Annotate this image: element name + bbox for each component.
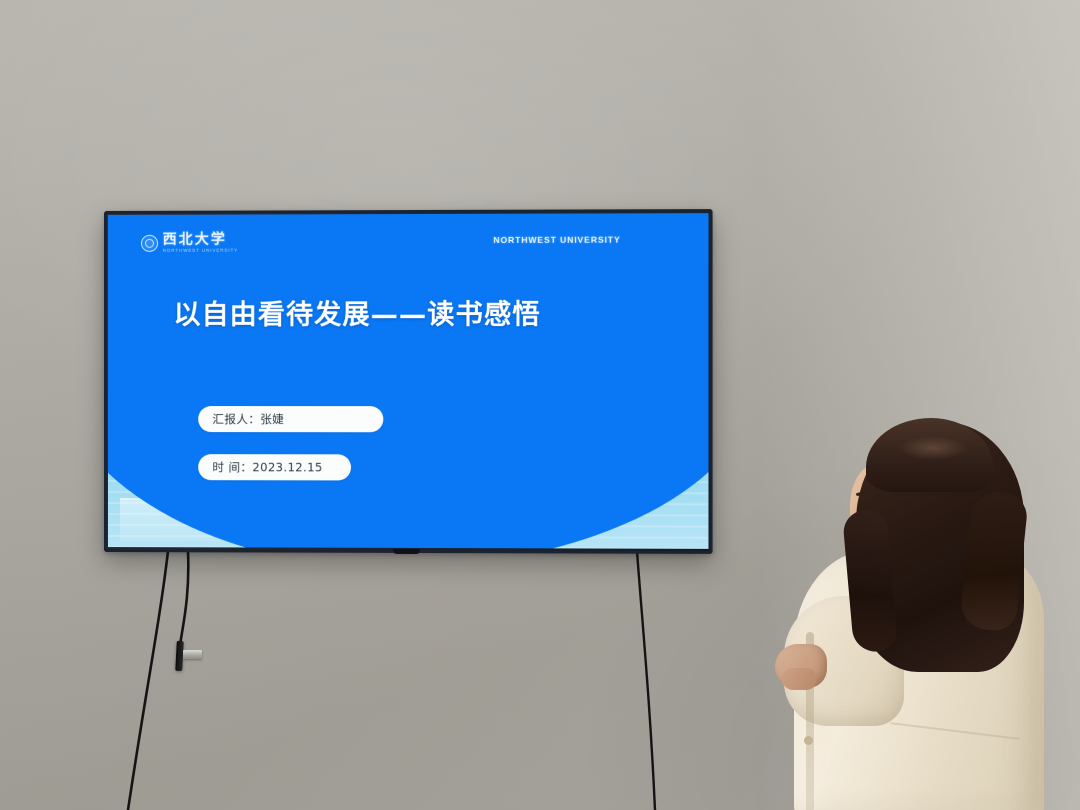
center-cable <box>180 551 188 646</box>
person-hair-highlight <box>898 436 968 460</box>
university-name-stack: 西北大学 NORTHWEST UNIVERSITY <box>163 233 238 254</box>
university-name-cn: 西北大学 <box>163 233 238 247</box>
slide-date-pill: 时 间：2023.12.15 <box>198 454 350 480</box>
slide-presenter-pill: 汇报人：张婕 <box>198 406 383 432</box>
person-fingers <box>782 668 816 690</box>
presentation-slide[interactable]: 西北大学 NORTHWEST UNIVERSITY NORTHWEST UNIV… <box>108 213 708 549</box>
university-seal-icon <box>141 235 158 252</box>
slide-header-english: NORTHWEST UNIVERSITY <box>493 235 620 245</box>
slide-title: 以自由看待发展——读书感悟 <box>173 292 540 332</box>
university-logo: 西北大学 NORTHWEST UNIVERSITY <box>141 233 238 254</box>
tv-sensor-nub <box>393 549 419 554</box>
wall-mounted-tv[interactable]: 西北大学 NORTHWEST UNIVERSITY NORTHWEST UNIV… <box>104 209 713 554</box>
person-coat-button <box>804 736 813 745</box>
room-scene: 西北大学 NORTHWEST UNIVERSITY NORTHWEST UNIV… <box>0 0 1080 810</box>
hdmi-connector-metal-tip <box>183 650 202 659</box>
university-name-en: NORTHWEST UNIVERSITY <box>163 249 238 254</box>
tv-screen[interactable]: 西北大学 NORTHWEST UNIVERSITY NORTHWEST UNIV… <box>108 213 708 549</box>
presenter-person <box>770 400 1080 810</box>
left-cable <box>128 551 168 810</box>
right-cable <box>637 551 655 810</box>
